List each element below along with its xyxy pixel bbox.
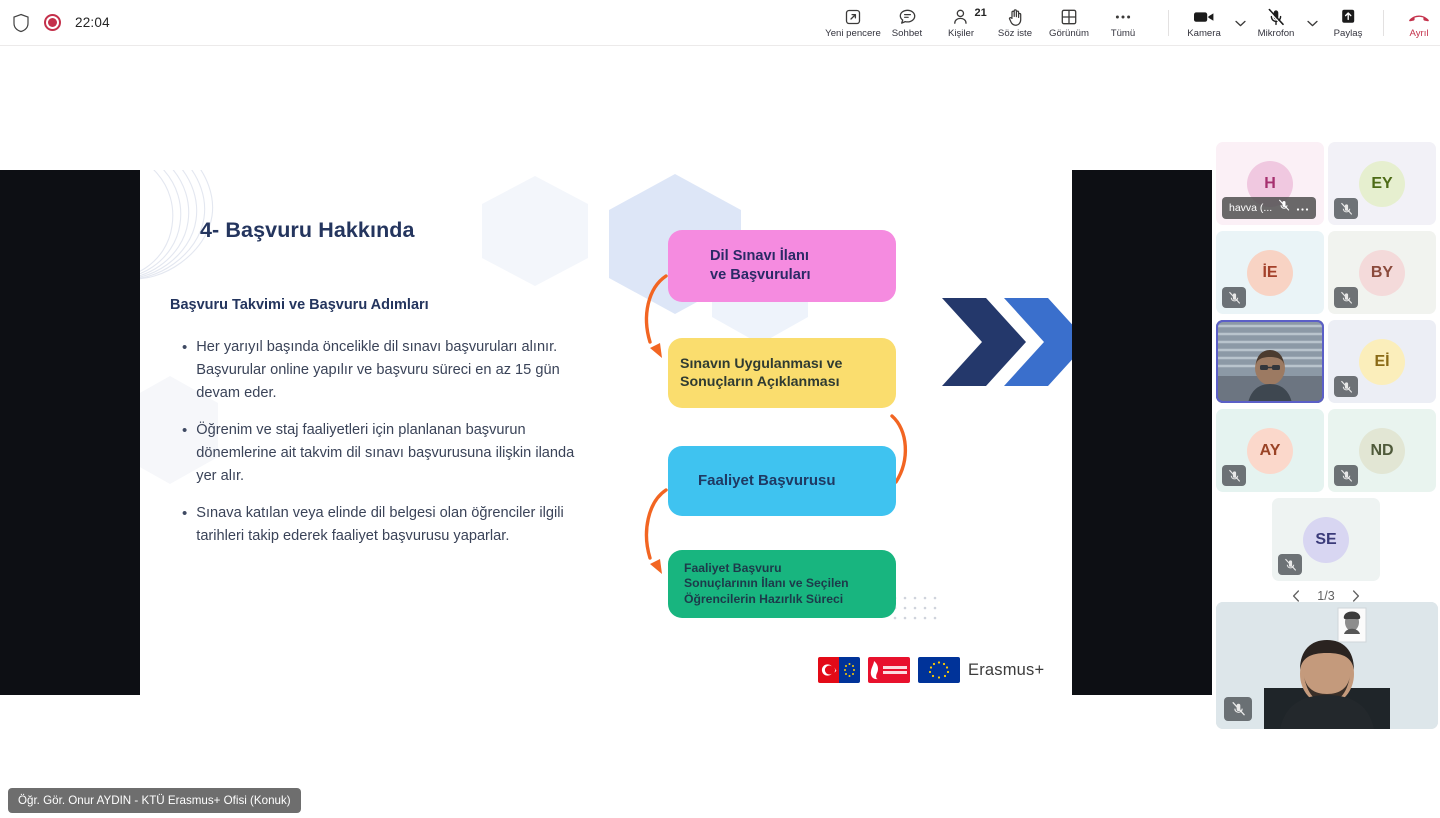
toolbar-divider-right: [1383, 10, 1384, 36]
microphone-muted-icon: [1334, 376, 1358, 397]
participants-pager: 1/3: [1212, 589, 1440, 603]
turkish-national-agency-logo: [868, 657, 910, 683]
flow-box-activity-application-label: Faaliyet Başvurusu: [698, 471, 836, 490]
participant-tiles-grid: H havva (... EY: [1212, 142, 1440, 581]
turkey-eu-flag-logo: [818, 657, 860, 683]
toolbar-center-group: Yeni pencere Sohbet 21 Kişiler Söz: [826, 0, 1150, 46]
microphone-muted-icon: [1278, 199, 1290, 217]
shared-slide[interactable]: 4- Başvuru Hakkında Başvuru Takvimi ve B…: [140, 170, 1072, 695]
camera-control-group: Kamera: [1177, 0, 1249, 46]
tile-hover-toolbar[interactable]: havva (...: [1222, 197, 1316, 219]
avatar-initials: EY: [1371, 175, 1392, 193]
toolbar-raise-hand[interactable]: Söz iste: [988, 0, 1042, 46]
toolbar-chat-label: Sohbet: [892, 28, 922, 39]
participant-tile-ei[interactable]: Eİ: [1328, 320, 1436, 403]
chevron-left-icon[interactable]: [1289, 589, 1303, 603]
participant-video-feed: [1216, 320, 1324, 403]
microphone-muted-icon: [1334, 287, 1358, 308]
avatar-initials: BY: [1371, 264, 1393, 282]
process-flow-diagram: Dil Sınavı İlanı ve Başvuruları Sınavın …: [660, 230, 960, 650]
avatar: EY: [1359, 161, 1405, 207]
toolbar-share-label: Paylaş: [1334, 28, 1363, 39]
toolbar-camera[interactable]: Kamera: [1177, 0, 1231, 46]
participant-tile-havva[interactable]: H havva (...: [1216, 142, 1324, 225]
flow-box-exam-results: Sınavın Uygulanması ve Sonuçların Açıkla…: [668, 338, 896, 408]
toolbar-people-label: Kişiler: [948, 28, 974, 39]
meeting-app-window: 22:04 Yeni pencere Sohbet 21 K: [0, 0, 1440, 818]
toolbar-left-group: 22:04: [0, 13, 110, 33]
chevron-right-icon[interactable]: [1349, 589, 1363, 603]
bullet-text: Öğrenim ve staj faaliyetleri için planla…: [196, 419, 582, 488]
meeting-stage: 4- Başvuru Hakkında Başvuru Takvimi ve B…: [0, 46, 1212, 818]
more-ellipsis-icon: [1113, 7, 1133, 27]
flow-box-language-exam-label: Dil Sınavı İlanı ve Başvuruları: [710, 247, 811, 284]
toolbar-view-label: Görünüm: [1049, 28, 1089, 39]
self-view-tile[interactable]: [1216, 602, 1438, 729]
participant-tile-se[interactable]: SE: [1272, 498, 1380, 581]
toolbar-camera-label: Kamera: [1187, 28, 1221, 39]
avatar-initials: AY: [1260, 442, 1281, 460]
microphone-muted-icon: [1278, 554, 1302, 575]
avatar: AY: [1247, 428, 1293, 474]
flow-box-activity-application: Faaliyet Başvurusu: [668, 446, 896, 516]
slide-bullet-list: • Her yarıyıl başında öncelikle dil sına…: [182, 336, 582, 562]
toolbar-view[interactable]: Görünüm: [1042, 0, 1096, 46]
flow-box-results-preparation: Faaliyet Başvuru Sonuçlarının İlanı ve S…: [668, 550, 896, 618]
camera-icon: [1192, 7, 1216, 27]
flow-box-language-exam: Dil Sınavı İlanı ve Başvuruları: [668, 230, 896, 302]
people-icon: 21: [953, 7, 970, 27]
presenter-name-badge: Öğr. Gör. Onur AYDIN - KTÜ Erasmus+ Ofis…: [8, 788, 301, 813]
hexagon-decoration-icon: [470, 170, 600, 290]
microphone-muted-icon: [1224, 697, 1252, 721]
avatar-initials: ND: [1370, 442, 1393, 460]
list-item: • Öğrenim ve staj faaliyetleri için plan…: [182, 419, 582, 488]
microphone-options-chevron-down-icon[interactable]: [1303, 0, 1321, 46]
avatar: İE: [1247, 250, 1293, 296]
slide-subtitle: Başvuru Takvimi ve Başvuru Adımları: [170, 297, 429, 313]
microphone-muted-icon: [1266, 7, 1286, 27]
microphone-muted-icon: [1222, 465, 1246, 486]
avatar-initials: H: [1264, 175, 1276, 193]
avatar: SE: [1303, 517, 1349, 563]
participant-tile-by[interactable]: BY: [1328, 231, 1436, 314]
new-window-icon: [844, 7, 862, 27]
avatar: Eİ: [1359, 339, 1405, 385]
toolbar-more-label: Tümü: [1111, 28, 1136, 39]
microphone-control-group: Mikrofon: [1249, 0, 1321, 46]
avatar: ND: [1359, 428, 1405, 474]
avatar-initials: Eİ: [1374, 353, 1389, 371]
flow-box-results-preparation-label: Faaliyet Başvuru Sonuçlarının İlanı ve S…: [684, 561, 849, 608]
toolbar-chat[interactable]: Sohbet: [880, 0, 934, 46]
hangup-icon: [1407, 7, 1431, 27]
participant-tile-video-speaker[interactable]: [1216, 320, 1324, 403]
toolbar-raise-hand-label: Söz iste: [998, 28, 1032, 39]
toolbar-right-group: Kamera Mikrofon: [1160, 0, 1440, 46]
camera-options-chevron-down-icon[interactable]: [1231, 0, 1249, 46]
erasmus-brand-label: Erasmus+: [968, 661, 1044, 680]
meeting-toolbar: 22:04 Yeni pencere Sohbet 21 K: [0, 0, 1440, 46]
participant-tile-ay[interactable]: AY: [1216, 409, 1324, 492]
layout-grid-icon: [1060, 7, 1078, 27]
avatar-initials: SE: [1315, 531, 1336, 549]
chat-icon: [898, 7, 917, 27]
meeting-timer: 22:04: [75, 15, 110, 30]
toolbar-leave[interactable]: Ayrıl: [1392, 0, 1440, 46]
microphone-muted-icon: [1334, 465, 1358, 486]
flow-box-exam-results-label: Sınavın Uygulanması ve Sonuçların Açıkla…: [680, 355, 842, 391]
participant-name-label: havva (...: [1229, 202, 1272, 214]
shield-icon: [12, 13, 30, 33]
pager-label: 1/3: [1317, 589, 1334, 603]
toolbar-new-window[interactable]: Yeni pencere: [826, 0, 880, 46]
bullet-text: Her yarıyıl başında öncelikle dil sınavı…: [196, 336, 582, 405]
slide-footer-logos: Erasmus+: [818, 657, 1044, 683]
toolbar-more[interactable]: Tümü: [1096, 0, 1150, 46]
microphone-muted-icon: [1222, 287, 1246, 308]
eu-flag-logo: [918, 657, 960, 683]
avatar-initials: İE: [1262, 264, 1277, 282]
share-screen-icon: [1338, 7, 1358, 27]
bullet-marker: •: [182, 502, 187, 548]
microphone-muted-icon: [1334, 198, 1358, 219]
list-item: • Sınava katılan veya elinde dil belgesi…: [182, 502, 582, 548]
participant-tile-nd[interactable]: ND: [1328, 409, 1436, 492]
more-ellipsis-icon[interactable]: [1296, 199, 1309, 217]
toolbar-people[interactable]: 21 Kişiler: [934, 0, 988, 46]
bullet-text: Sınava katılan veya elinde dil belgesi o…: [196, 502, 582, 548]
toolbar-microphone-label: Mikrofon: [1258, 28, 1295, 39]
bullet-marker: •: [182, 336, 187, 405]
participants-rail: H havva (... EY: [1212, 46, 1440, 818]
avatar: BY: [1359, 250, 1405, 296]
toolbar-divider-left: [1168, 10, 1169, 36]
toolbar-share[interactable]: Paylaş: [1321, 0, 1375, 46]
participant-tile-ey[interactable]: EY: [1328, 142, 1436, 225]
toolbar-leave-label: Ayrıl: [1409, 28, 1428, 39]
slide-title: 4- Başvuru Hakkında: [200, 218, 415, 243]
toolbar-new-window-label: Yeni pencere: [825, 28, 881, 39]
bullet-marker: •: [182, 419, 187, 488]
record-indicator-icon: [44, 14, 61, 31]
raise-hand-icon: [1007, 7, 1024, 27]
toolbar-microphone[interactable]: Mikrofon: [1249, 0, 1303, 46]
participant-tile-ie[interactable]: İE: [1216, 231, 1324, 314]
list-item: • Her yarıyıl başında öncelikle dil sına…: [182, 336, 582, 405]
people-count-badge: 21: [975, 7, 987, 19]
